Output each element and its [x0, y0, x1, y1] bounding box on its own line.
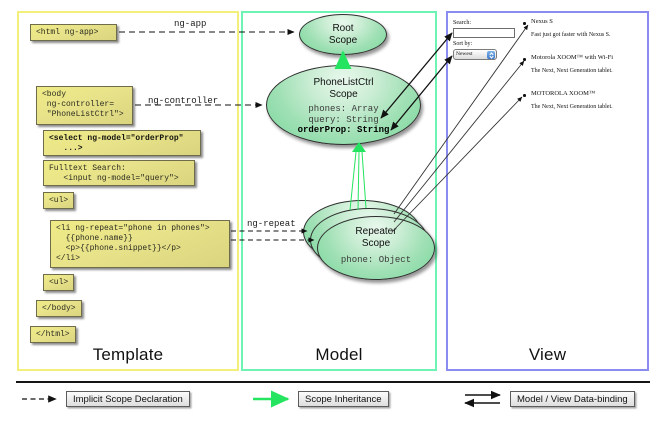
- panel-template: Template: [17, 11, 239, 371]
- panel-label-model: Model: [243, 345, 435, 365]
- code-box-html-open-tag: <html ng-app>: [30, 24, 117, 41]
- scope-root-title: Root Scope: [300, 15, 386, 47]
- view-phone-snippet: The Next, Next Generation tablet.: [531, 104, 613, 110]
- code-box-body-close-tag: </body>: [36, 300, 82, 317]
- scope-repeater-prop-phone: phone: Object: [318, 255, 434, 266]
- view-phone-snippet: The Next, Next Generation tablet.: [531, 68, 613, 74]
- scope-repeater-title: Repeater Scope: [318, 217, 434, 250]
- chevron-updown-icon: [487, 51, 495, 59]
- legend-icon-model-view-data-binding: [465, 395, 500, 403]
- view-phone-title: MOTOROLA XOOM™: [531, 90, 595, 97]
- code-box-body-controller-tag: <body ng-controller= "PhoneListCtrl">: [36, 86, 133, 125]
- panel-label-template: Template: [19, 345, 237, 365]
- code-box-fulltext-search-tag: Fulltext Search: <input ng-model="query"…: [43, 160, 195, 186]
- list-bullet-icon: [523, 94, 526, 97]
- legend-model-view-data-binding: Model / View Data-binding: [510, 391, 635, 407]
- scope-repeater: Repeater Scope phone: Object: [317, 216, 435, 280]
- view-phone-snippet: Fast just got faster with Nexus S.: [531, 32, 611, 38]
- edge-label-ng-app: ng-app: [174, 19, 206, 29]
- list-bullet-icon: [523, 22, 526, 25]
- panel-view: View: [446, 11, 649, 371]
- code-box-select-order-prop-tag: <select ng-model="orderProp" ...>: [43, 130, 201, 156]
- scope-phonelistctrl-prop-orderprop: orderProp: String: [267, 125, 420, 136]
- scope-phonelistctrl-prop-phones: phones: Array: [267, 104, 420, 115]
- scope-phonelistctrl-title: PhoneListCtrl Scope: [267, 66, 420, 101]
- view-search-input[interactable]: [453, 28, 515, 38]
- view-search-label: Search:: [453, 20, 471, 26]
- edge-label-ng-repeat: ng-repeat: [247, 219, 296, 229]
- panel-label-view: View: [448, 345, 647, 365]
- list-bullet-icon: [523, 58, 526, 61]
- legend-scope-inheritance: Scope Inheritance: [298, 391, 389, 407]
- scope-root: Root Scope: [299, 14, 387, 55]
- view-phone-title: Nexus S: [531, 18, 553, 25]
- code-box-li-ng-repeat-tag: <li ng-repeat="phone in phones"> {{phone…: [50, 220, 230, 268]
- scope-phonelistctrl: PhoneListCtrl Scope phones: Array query:…: [266, 65, 421, 145]
- view-sort-select[interactable]: Newest: [453, 49, 497, 60]
- view-sort-selected-value: Newest: [456, 51, 473, 57]
- legend-divider: [16, 381, 650, 383]
- view-sort-label: Sort by:: [453, 41, 472, 47]
- scope-phonelistctrl-prop-query: query: String: [267, 115, 420, 126]
- code-box-ul-close-tag: <ul>: [43, 274, 74, 291]
- legend-implicit-scope-declaration: Implicit Scope Declaration: [66, 391, 190, 407]
- edge-label-ng-controller: ng-controller: [148, 96, 218, 106]
- view-phone-title: Motorola XOOM™ with Wi-Fi: [531, 54, 613, 61]
- code-box-ul-open-tag: <ul>: [43, 192, 74, 209]
- code-box-html-close-tag: </html>: [30, 326, 76, 343]
